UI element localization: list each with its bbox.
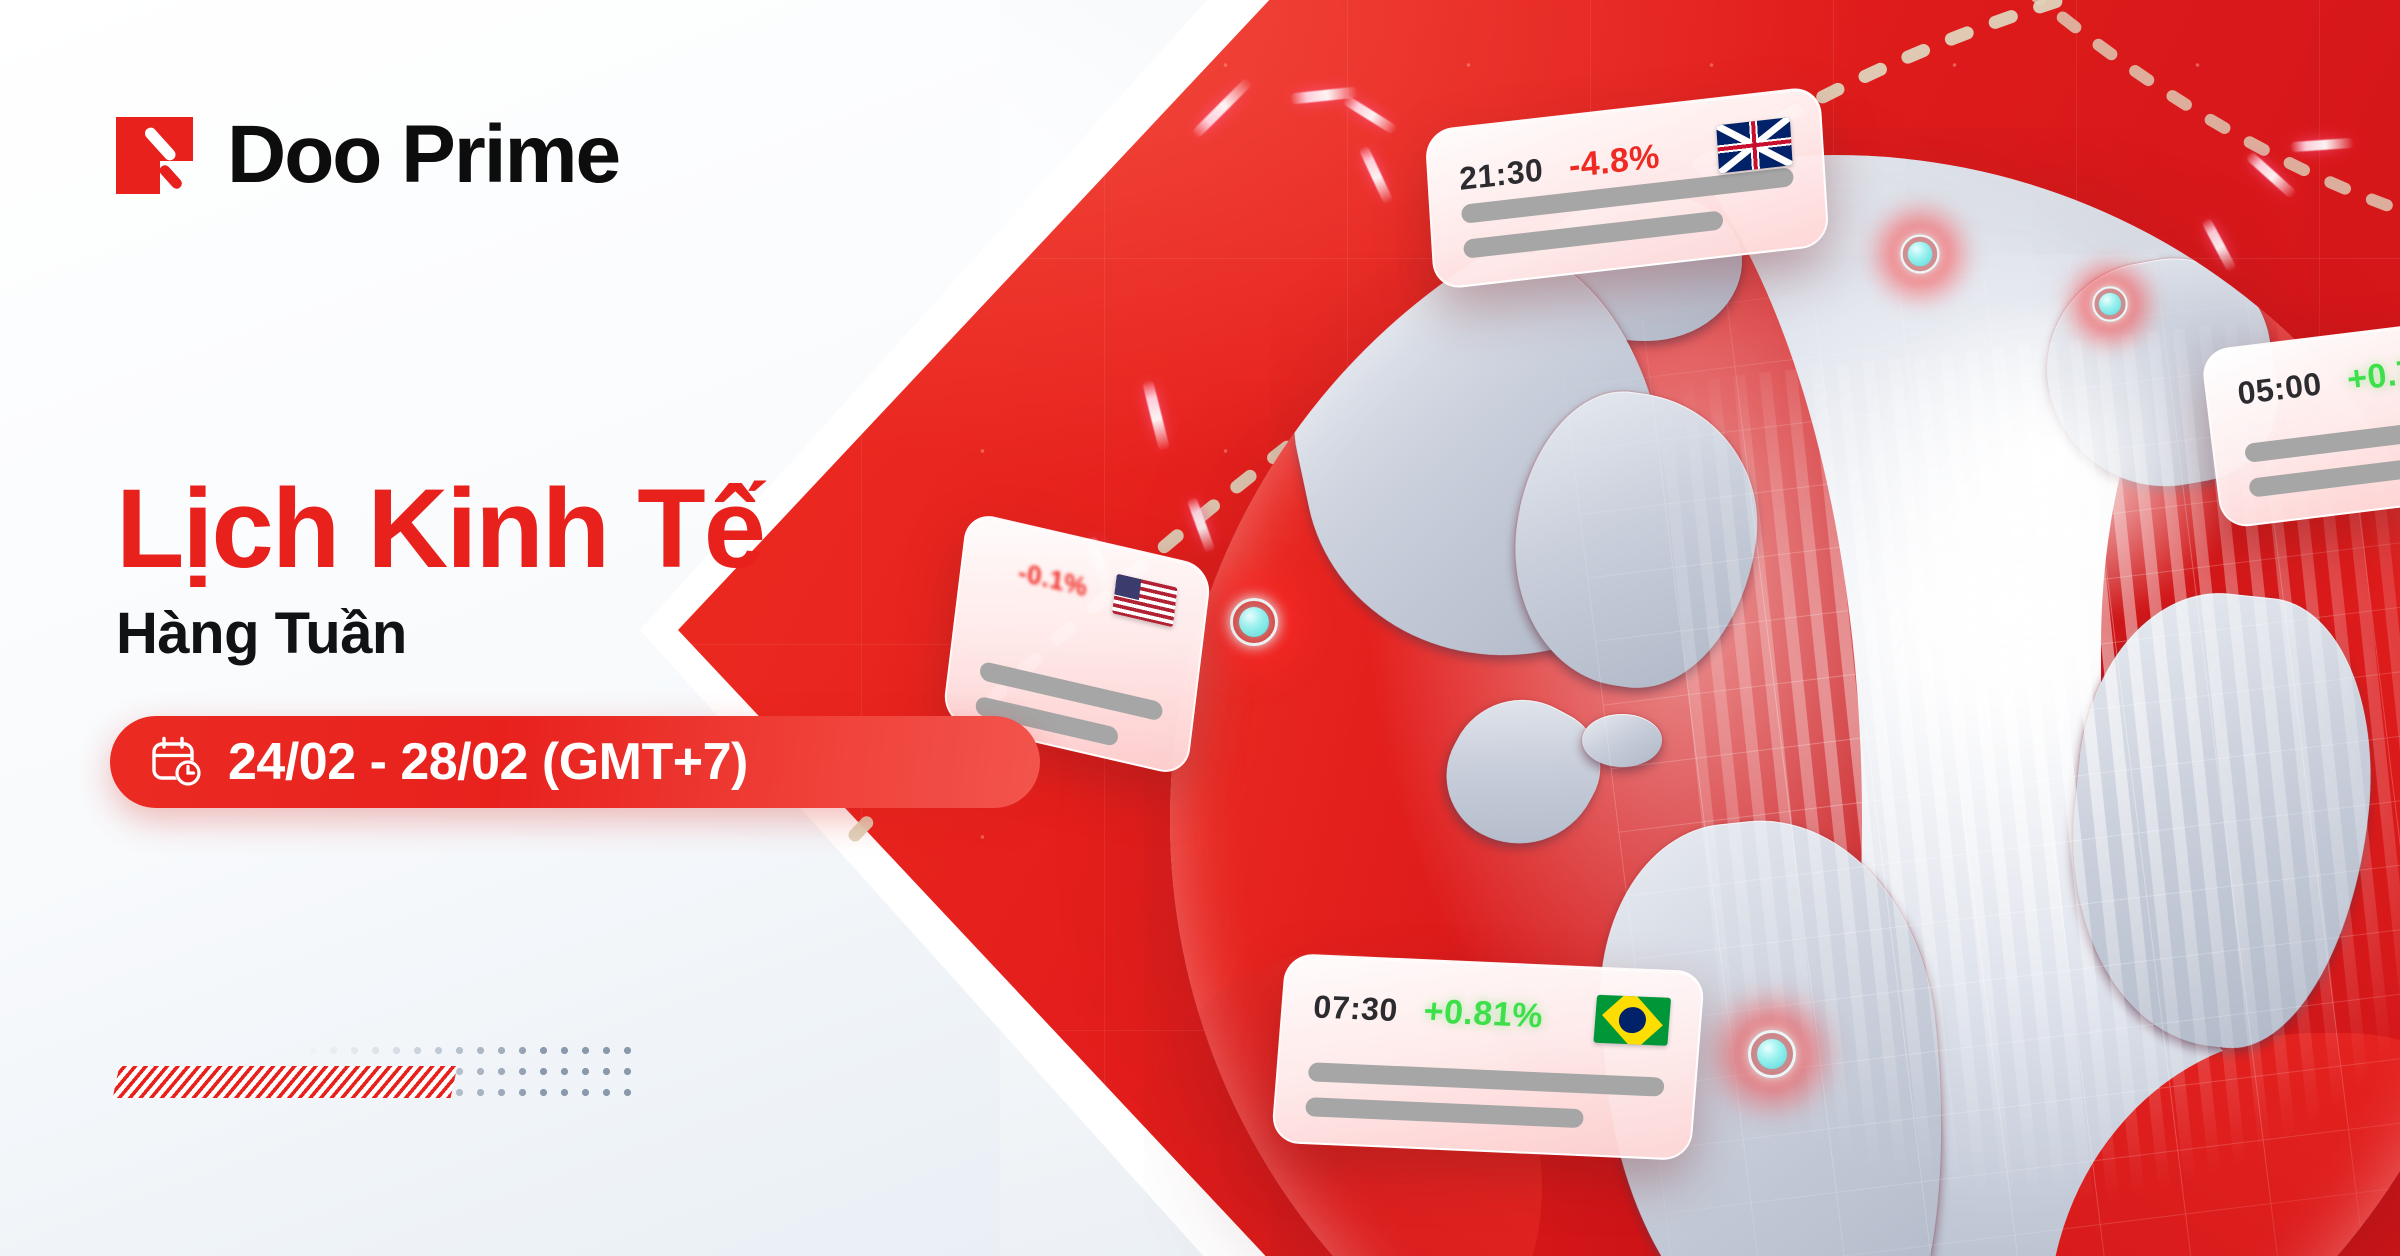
card-bar [2244,412,2400,463]
flag-diagonals [1716,117,1792,173]
red-diagonal-hatch-bar [113,1066,458,1098]
card-change-value: +0.7 [2345,353,2400,400]
decorative-accent-group [116,1040,636,1110]
pin-dot-icon [1239,607,1269,637]
brand-name: Doo Prime [227,114,619,196]
card-bar [1305,1097,1584,1128]
date-range-badge[interactable]: 24/02 - 28/02 (GMT+7) [110,716,1040,808]
left-content-panel: Doo Prime Lịch Kinh Tế Hàng Tuần 24/02 -… [0,0,1100,1256]
uk-flag-icon [1716,117,1792,173]
doo-prime-logo-mark-icon [116,117,193,194]
card-change-value: -4.8% [1568,137,1661,186]
location-pin-europe[interactable] [1894,228,1946,280]
location-pin-south-america[interactable] [1740,1022,1804,1086]
card-time: 21:30 [1458,151,1544,198]
card-header-row: 05:00 +0.7 [2235,342,2400,413]
page-title: Lịch Kinh Tế [116,472,764,586]
pin-dot-icon [2099,293,2121,315]
economic-calendar-banner: 21:30 -4.8% -0.1% 05:00 +0 [0,0,2400,1256]
date-range-label: 24/02 - 28/02 (GMT+7) [228,732,748,792]
data-card-brazil[interactable]: 07:30 +0.81% [1271,953,1706,1161]
card-placeholder-bars [2244,412,2400,498]
card-time: 05:00 [2236,365,2324,412]
pin-dot-icon [1757,1039,1787,1069]
card-bar [1308,1062,1665,1096]
location-pin-asia[interactable] [2086,280,2133,327]
calendar-clock-icon [150,735,204,789]
brazil-flag-icon [1593,995,1671,1046]
page-subtitle: Hàng Tuần [116,600,407,667]
location-pin-north-america[interactable] [1222,590,1286,654]
us-flag-icon [1112,574,1178,628]
card-placeholder-bars [1305,1062,1665,1131]
card-time: 07:30 [1312,988,1399,1029]
card-header-row: 07:30 +0.81% [1312,982,1671,1045]
brand-logo[interactable]: Doo Prime [116,114,619,196]
pin-dot-icon [1908,242,1933,267]
card-bar [2248,454,2400,498]
card-change-value: +0.81% [1422,992,1544,1036]
